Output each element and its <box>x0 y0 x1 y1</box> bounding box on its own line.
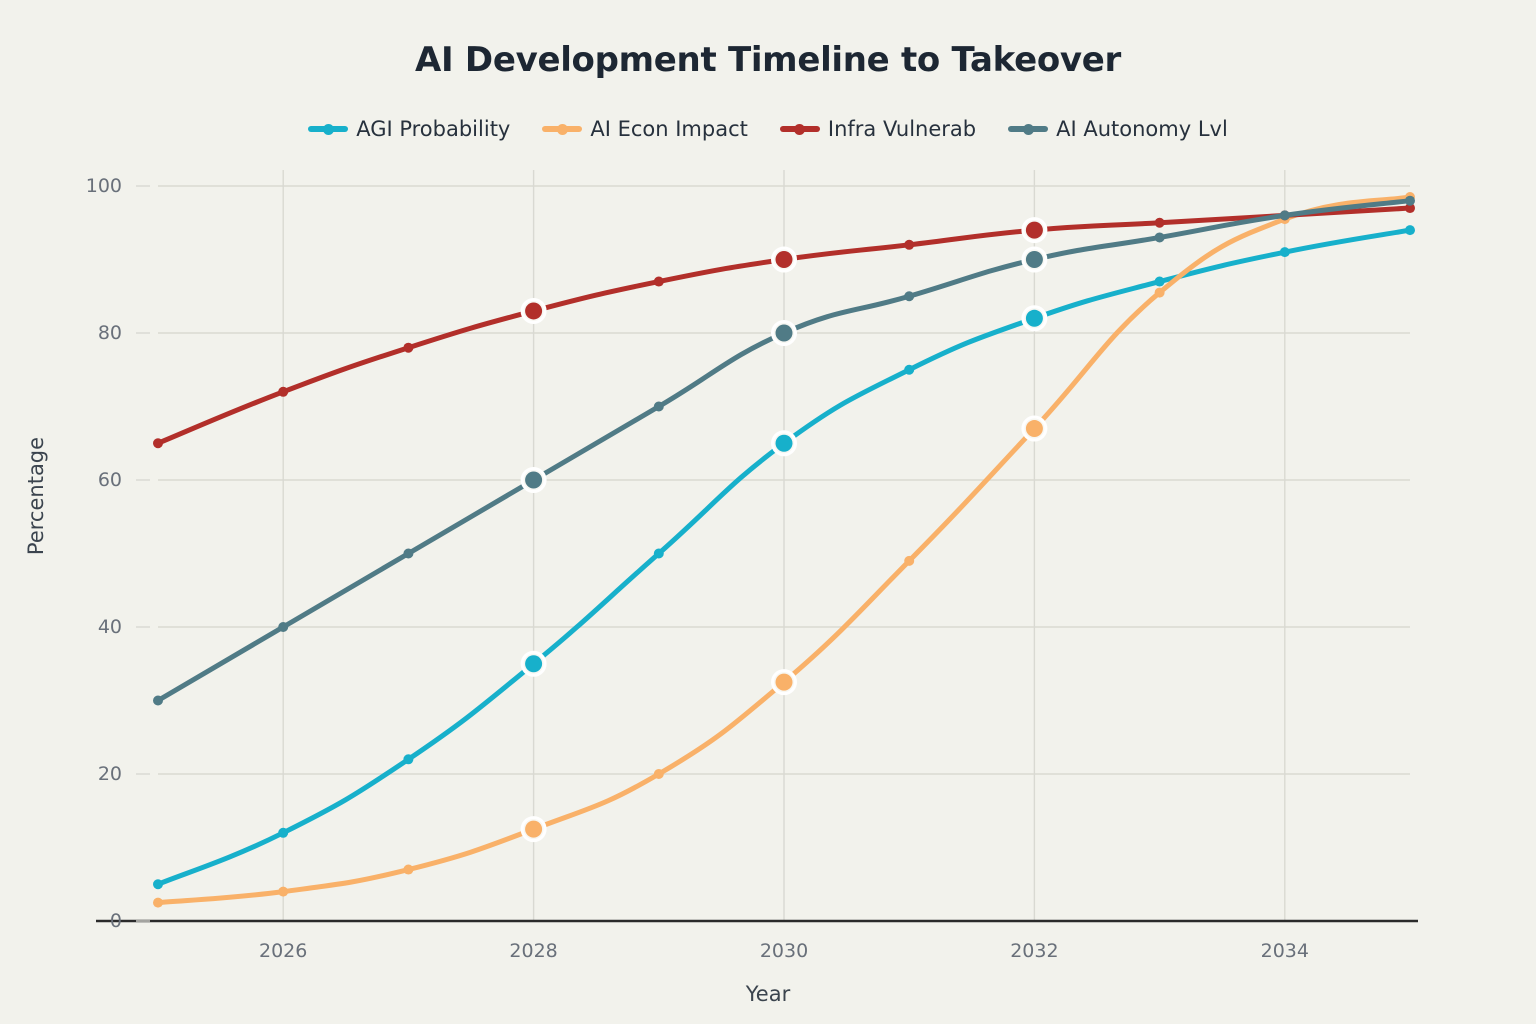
y-axis-label: Percentage <box>24 416 48 576</box>
data-point <box>403 549 413 559</box>
data-point <box>654 549 664 559</box>
data-point <box>1026 222 1043 239</box>
data-point <box>153 879 163 889</box>
data-point <box>654 277 664 287</box>
data-point <box>776 435 793 452</box>
data-point <box>1155 277 1165 287</box>
data-point <box>904 291 914 301</box>
data-point <box>153 438 163 448</box>
y-tick-label: 60 <box>62 469 122 491</box>
data-point <box>525 302 542 319</box>
data-point <box>1405 225 1415 235</box>
x-tick-label: 2030 <box>760 940 808 962</box>
data-point <box>1026 251 1043 268</box>
data-point <box>904 365 914 375</box>
data-point <box>654 402 664 412</box>
data-point <box>153 696 163 706</box>
data-point <box>525 821 542 838</box>
data-point <box>278 887 288 897</box>
data-point <box>776 674 793 691</box>
chart-page: AI Development Timeline to Takeover AGI … <box>0 0 1536 1024</box>
data-point <box>403 754 413 764</box>
data-point <box>776 251 793 268</box>
data-point <box>403 343 413 353</box>
data-point <box>904 556 914 566</box>
data-point <box>776 325 793 342</box>
y-tick-label: 80 <box>62 322 122 344</box>
x-tick-label: 2034 <box>1261 940 1309 962</box>
data-point <box>1026 420 1043 437</box>
data-point <box>1155 232 1165 242</box>
data-point <box>1155 218 1165 228</box>
y-tick-label: 0 <box>62 910 122 932</box>
y-tick-label: 100 <box>62 175 122 197</box>
x-tick-label: 2026 <box>259 940 307 962</box>
line-chart-plot <box>0 0 1536 1024</box>
data-point <box>525 472 542 489</box>
data-point <box>654 769 664 779</box>
data-point <box>1405 196 1415 206</box>
data-point <box>1026 310 1043 327</box>
x-tick-label: 2028 <box>509 940 557 962</box>
data-point <box>278 387 288 397</box>
x-axis-label: Year <box>0 982 1536 1006</box>
data-point <box>278 622 288 632</box>
y-tick-label: 20 <box>62 763 122 785</box>
data-point <box>525 655 542 672</box>
data-point <box>403 865 413 875</box>
data-point <box>153 898 163 908</box>
data-point <box>1155 288 1165 298</box>
data-point <box>1280 210 1290 220</box>
data-point <box>278 828 288 838</box>
x-tick-label: 2032 <box>1010 940 1058 962</box>
data-point <box>1280 247 1290 257</box>
y-tick-label: 40 <box>62 616 122 638</box>
data-point <box>904 240 914 250</box>
